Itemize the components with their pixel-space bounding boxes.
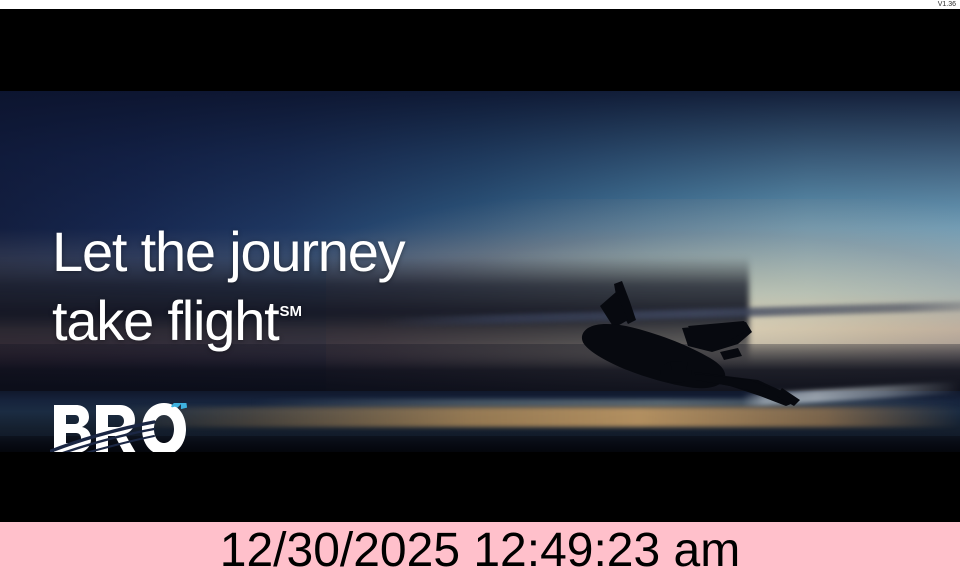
- ocean-sun-reflection: [115, 407, 960, 427]
- headline-line-2-wrap: take flightSM: [52, 282, 404, 351]
- version-strip: V1.36: [0, 0, 960, 9]
- datetime-text: 12/30/2025 12:49:23 am: [220, 526, 740, 576]
- version-label: V1.36: [938, 1, 956, 9]
- datetime-bar: 12/30/2025 12:49:23 am: [0, 522, 960, 580]
- bro-monogram-icon: [50, 403, 190, 452]
- headline-line-1: Let the journey: [52, 222, 404, 282]
- service-mark: SM: [280, 303, 303, 320]
- letterbox-band-top: [0, 9, 960, 91]
- flight-information-display: V1.36: [0, 0, 960, 580]
- airplane-silhouette-icon: [570, 276, 820, 411]
- letterbox-band-bottom: [0, 452, 960, 522]
- advertisement-banner: Let the journey take flightSM: [0, 91, 960, 452]
- headline-line-2: take flight: [52, 289, 279, 352]
- banner-headline: Let the journey take flightSM: [52, 222, 404, 351]
- airport-logo: Brownsville South Padre Island Internati…: [50, 403, 190, 452]
